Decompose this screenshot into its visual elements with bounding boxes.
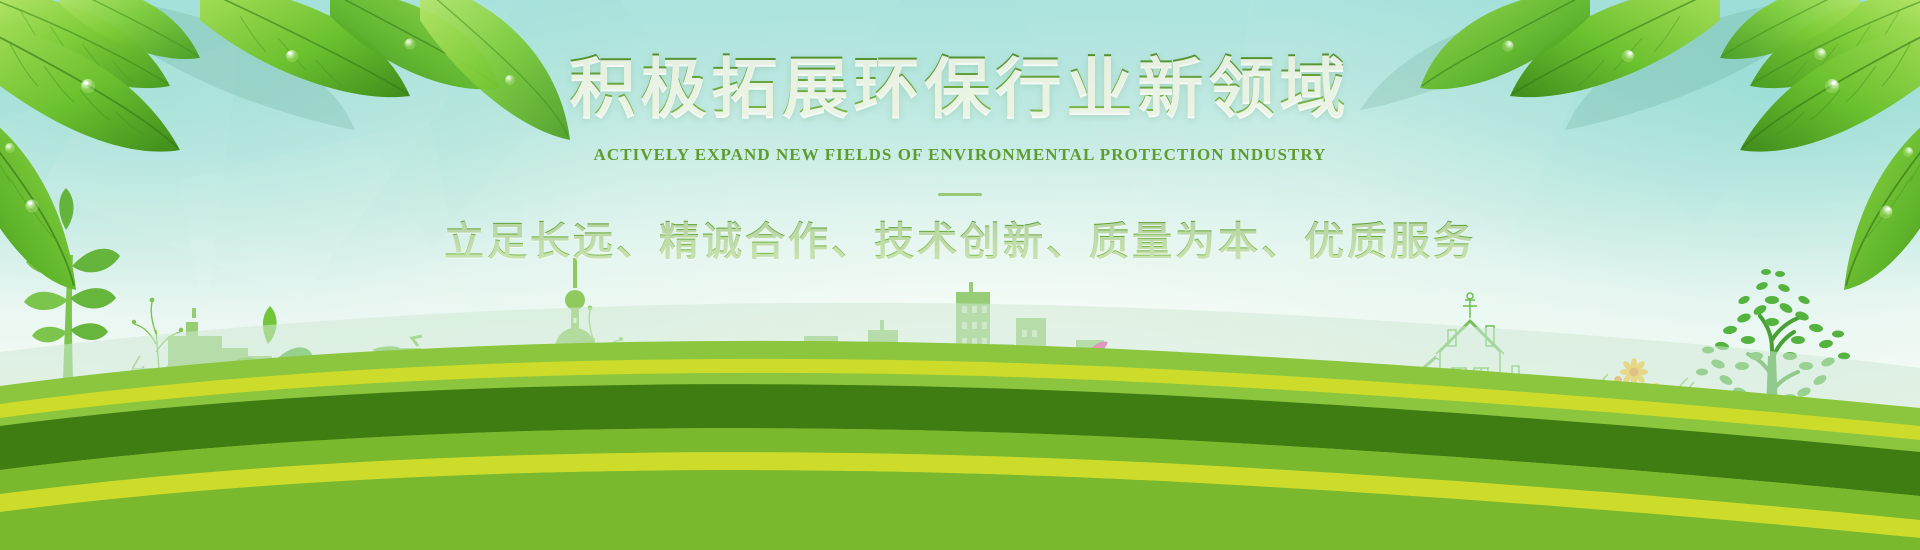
environmental-banner: 积极拓展环保行业新领域 ACTIVELY EXPAND NEW FIELDS O… (0, 0, 1920, 550)
leaf-cluster-top-right (0, 0, 1920, 550)
leaf-icon (1844, 100, 1920, 290)
